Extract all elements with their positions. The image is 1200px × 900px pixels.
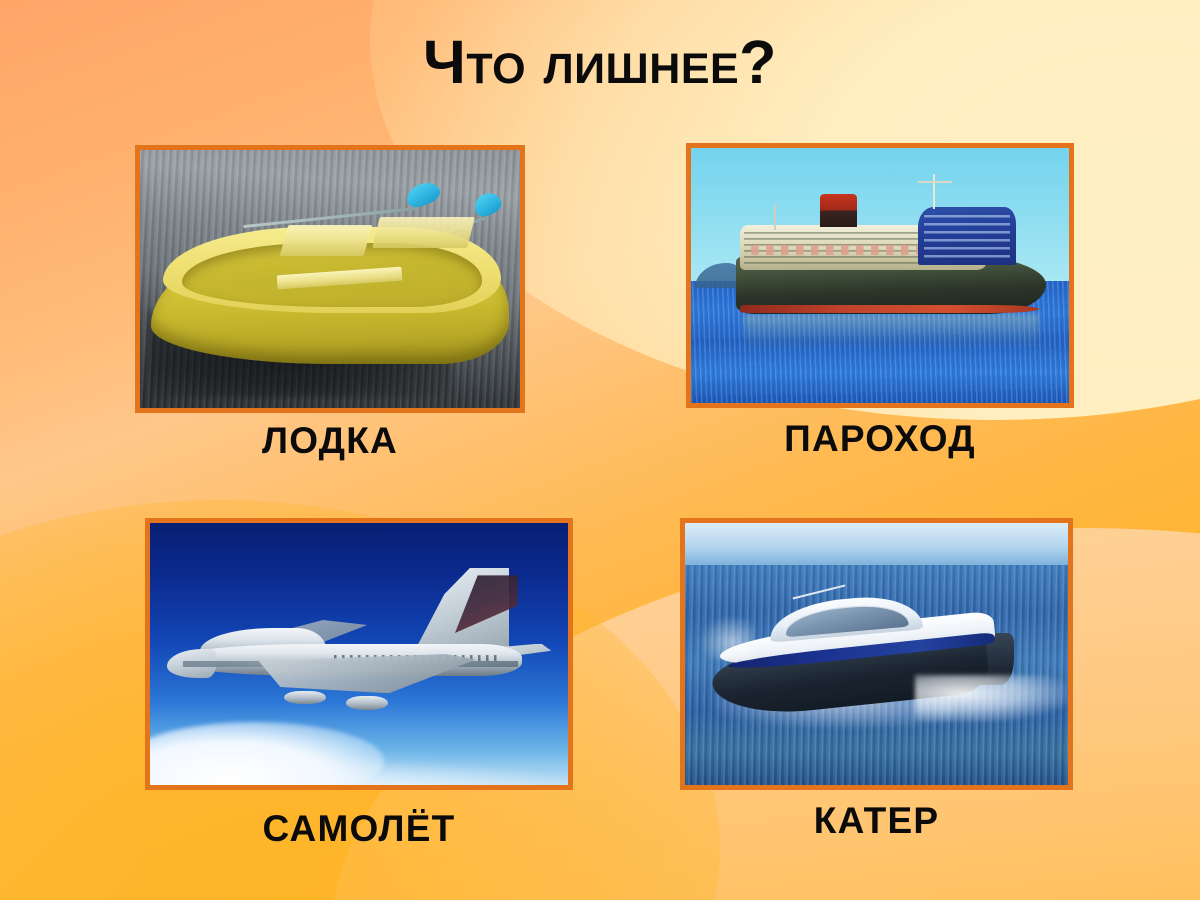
page-title: Что лишнее? [0,30,1200,94]
caption-boat: ЛОДКА [135,420,525,462]
caption-motorboat: КАТЕР [680,800,1073,842]
picture-frame-boat[interactable] [135,145,525,413]
picture-frame-steamship[interactable] [686,143,1074,408]
caption-steamship: ПАРОХОД [686,418,1074,460]
photo-speedboat [685,523,1068,785]
ship-waterline-stripe [740,305,1039,313]
ship-funnel [820,194,858,227]
ship-bridge-block [918,207,1016,266]
boat-bench-middle [280,225,372,256]
horizon-sky [685,523,1068,565]
airplane-engine-outer [346,696,388,710]
ship-lifeboats [751,245,917,255]
picture-frame-airplane[interactable] [145,518,573,790]
ship-mast-crossarm [918,181,952,183]
ship-mast [933,174,935,210]
bow-spray [700,617,754,659]
photo-yellow-rowing-boat [140,150,520,408]
airplane-engine-inner [284,691,326,705]
photo-cruise-liner [691,148,1069,403]
picture-frame-motorboat[interactable] [680,518,1073,790]
caption-airplane: САМОЛЁТ [145,808,573,850]
stern-wake-spray [915,675,1068,722]
ship-forward-mast [774,204,776,230]
boat-bench-stern [372,217,475,248]
slide-canvas: Что лишнее? ЛОДКА [0,0,1200,900]
ship-reflection [744,314,1039,350]
cloud [150,722,384,785]
photo-boeing-747 [150,523,568,785]
